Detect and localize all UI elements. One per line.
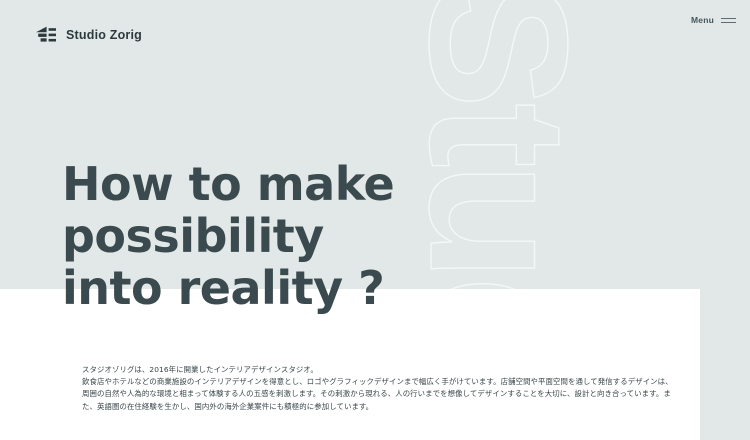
menu-label: Menu (691, 16, 714, 25)
about-line-4: た、英語圏の在住経験を生かし、国内外の海外企業案件にも積極的に参加しています。 (82, 401, 642, 413)
about-line-1: スタジオゾリグは、2016年に開業したインテリアデザインスタジオ。 (82, 364, 642, 376)
brand-logo-link[interactable]: Studio Zorig (36, 26, 142, 44)
about-paragraphs: スタジオゾリグは、2016年に開業したインテリアデザインスタジオ。 飲食店やホテ… (82, 364, 642, 413)
hero-line-1: How to make (62, 158, 394, 210)
about-line-2: 飲食店やホテルなどの商業施設のインテリアデザインを得意とし、ロゴやグラフィックデ… (82, 376, 642, 388)
hero-line-2: possibility (62, 210, 394, 262)
about-line-3: 周囲の自然や人為的な環境と相まって体験する人の五感を刺激します。その刺激から現れ… (82, 388, 642, 400)
hero-line-3: into reality ? (62, 262, 394, 314)
page-root: Studio Studio Zorig Menu (0, 0, 750, 440)
studio-zorig-logo-icon (36, 26, 58, 44)
hero-heading: How to make possibility into reality ? (62, 158, 394, 314)
brand-name: Studio Zorig (66, 29, 142, 42)
hamburger-icon (721, 18, 736, 23)
menu-button[interactable]: Menu (689, 12, 738, 29)
site-header: Studio Zorig Menu (0, 0, 750, 60)
